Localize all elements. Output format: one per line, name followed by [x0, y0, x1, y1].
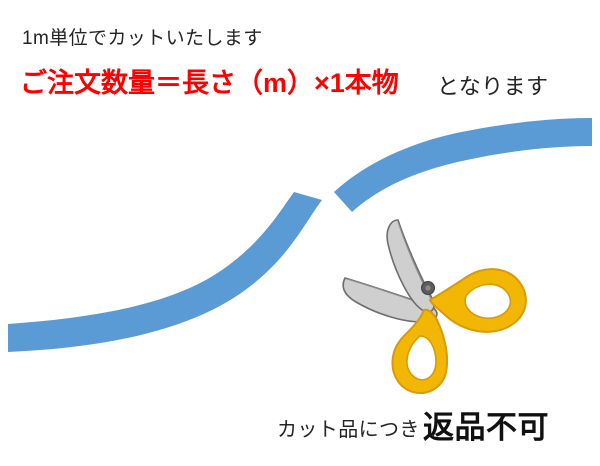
order-formula-suffix-text: となります — [437, 76, 548, 98]
return-emphasis-text: 返品不可 — [423, 412, 549, 443]
rope-right-segment — [334, 118, 592, 212]
scissor-pivot — [422, 282, 435, 295]
return-prefix-text: カット品につき — [277, 420, 420, 440]
cut-unit-text: 1m単位でカットいたします — [22, 29, 263, 48]
scissor-handle-lower — [392, 310, 447, 393]
scissor-handle-right — [430, 269, 526, 332]
scissors — [343, 220, 526, 393]
rope-left-segment — [8, 192, 322, 352]
notice-canvas: 1m単位でカットいたします ご注文数量＝長さ（m）×1本物 となります カット品… — [0, 0, 600, 466]
order-formula-text: ご注文数量＝長さ（m）×1本物 — [20, 70, 399, 97]
